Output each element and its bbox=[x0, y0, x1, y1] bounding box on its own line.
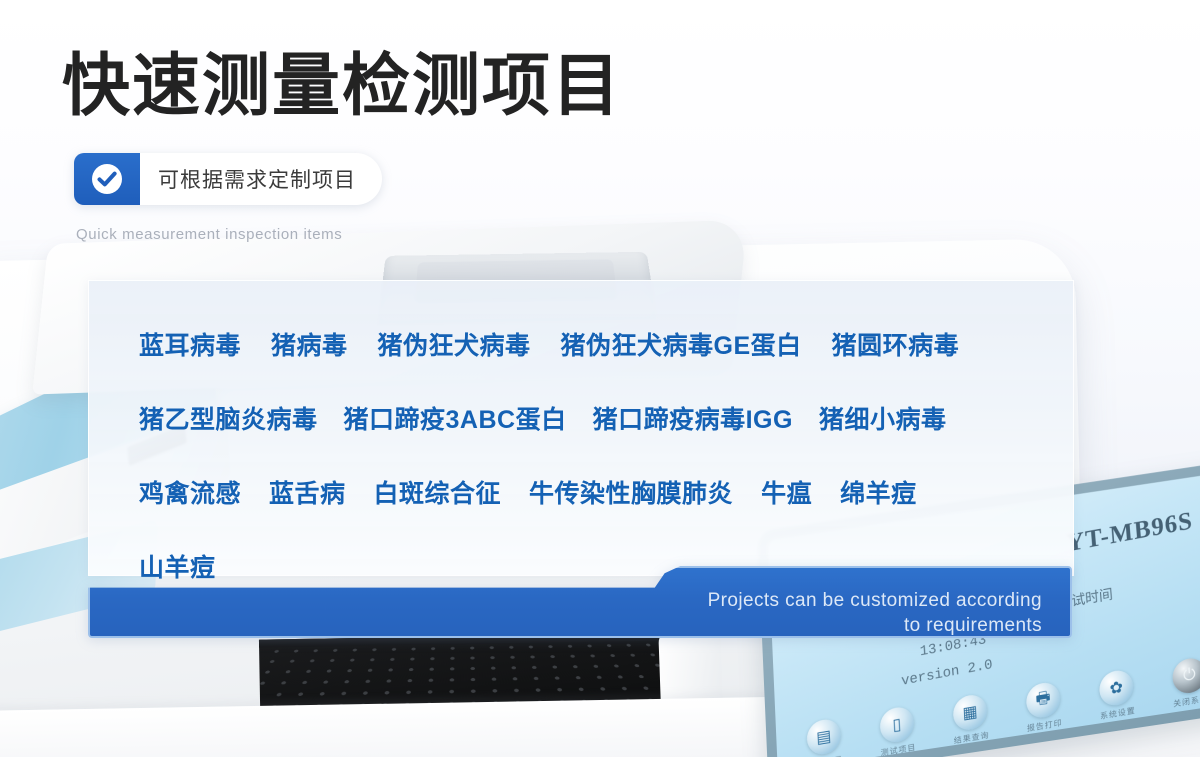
item-row: 鸡禽流感 蓝舌病 白斑综合征 牛传染性胸膜肺炎 牛瘟 绵羊痘 bbox=[89, 455, 1073, 529]
page-subtitle: Quick measurement inspection items bbox=[76, 226, 342, 243]
detection-item[interactable]: 猪口蹄疫3ABC蛋白 bbox=[344, 400, 567, 436]
sample-test-icon: ▤ bbox=[806, 717, 842, 757]
promo-banner: YT-MB96S 2021-03-15 测试时间 13:08:43 versio… bbox=[0, 0, 1200, 757]
device-version-label: version 2.0 bbox=[901, 657, 993, 690]
detection-item[interactable]: 猪病毒 bbox=[271, 326, 348, 362]
detection-item[interactable]: 猪伪狂犬病毒GE蛋白 bbox=[561, 326, 802, 362]
detection-item[interactable]: 蓝耳病毒 bbox=[139, 326, 241, 362]
footer-caption-line1: Projects can be customized according bbox=[622, 588, 1042, 613]
footer-bar: Projects can be customized according to … bbox=[88, 566, 1072, 638]
detection-item[interactable]: 牛瘟 bbox=[761, 474, 812, 510]
footer-caption-line2: to requirements bbox=[622, 613, 1042, 638]
result-query-icon: ▦ bbox=[952, 693, 988, 733]
item-row: 蓝耳病毒 猪病毒 猪伪狂犬病毒 猪伪狂犬病毒GE蛋白 猪圆环病毒 bbox=[89, 307, 1073, 381]
printer-icon: 🖶 bbox=[1025, 680, 1061, 720]
detection-item[interactable]: 猪圆环病毒 bbox=[832, 326, 960, 362]
detection-item[interactable]: 猪口蹄疫病毒IGG bbox=[593, 400, 793, 436]
test-item-icon: ▯ bbox=[879, 705, 915, 745]
print-setup-button[interactable]: 🖶 报告打印 bbox=[1016, 679, 1070, 736]
badge-label: 可根据需求定制项目 bbox=[140, 153, 382, 205]
detection-item[interactable]: 鸡禽流感 bbox=[139, 474, 241, 510]
detection-item[interactable]: 猪乙型脑炎病毒 bbox=[139, 400, 318, 436]
item-row: 猪乙型脑炎病毒 猪口蹄疫3ABC蛋白 猪口蹄疫病毒IGG 猪细小病毒 bbox=[89, 381, 1073, 455]
power-icon: ⏻ bbox=[1172, 656, 1200, 696]
device-model-label: YT-MB96S bbox=[1065, 507, 1193, 558]
footer-caption: Projects can be customized according to … bbox=[622, 588, 1042, 638]
custom-projects-badge: 可根据需求定制项目 bbox=[74, 153, 382, 205]
power-button[interactable]: ⏻ 关闭系统 bbox=[1163, 654, 1200, 711]
page-title: 快速测量检测项目 bbox=[62, 52, 622, 120]
detection-item[interactable]: 绵羊痘 bbox=[840, 474, 917, 510]
detection-item[interactable]: 白斑综合征 bbox=[374, 474, 502, 510]
sample-test-button[interactable]: ▤ 样本测量 bbox=[797, 716, 851, 757]
detection-item[interactable]: 猪细小病毒 bbox=[819, 400, 947, 436]
detection-item[interactable]: 牛传染性胸膜肺炎 bbox=[529, 474, 733, 510]
detection-item[interactable]: 蓝舌病 bbox=[269, 474, 346, 510]
detection-items-list: 蓝耳病毒 猪病毒 猪伪狂犬病毒 猪伪狂犬病毒GE蛋白 猪圆环病毒 猪乙型脑炎病毒… bbox=[89, 281, 1073, 603]
system-setup-button[interactable]: ✿ 系统设置 bbox=[1090, 667, 1144, 724]
test-item-button[interactable]: ▯ 测试项目 bbox=[870, 703, 924, 757]
gear-icon: ✿ bbox=[1098, 668, 1134, 708]
check-circle-icon bbox=[74, 153, 140, 205]
detection-items-panel: 蓝耳病毒 猪病毒 猪伪狂犬病毒 猪伪狂犬病毒GE蛋白 猪圆环病毒 猪乙型脑炎病毒… bbox=[88, 280, 1074, 576]
detection-item[interactable]: 猪伪狂犬病毒 bbox=[378, 326, 531, 362]
result-query-button[interactable]: ▦ 结果查询 bbox=[943, 691, 997, 748]
